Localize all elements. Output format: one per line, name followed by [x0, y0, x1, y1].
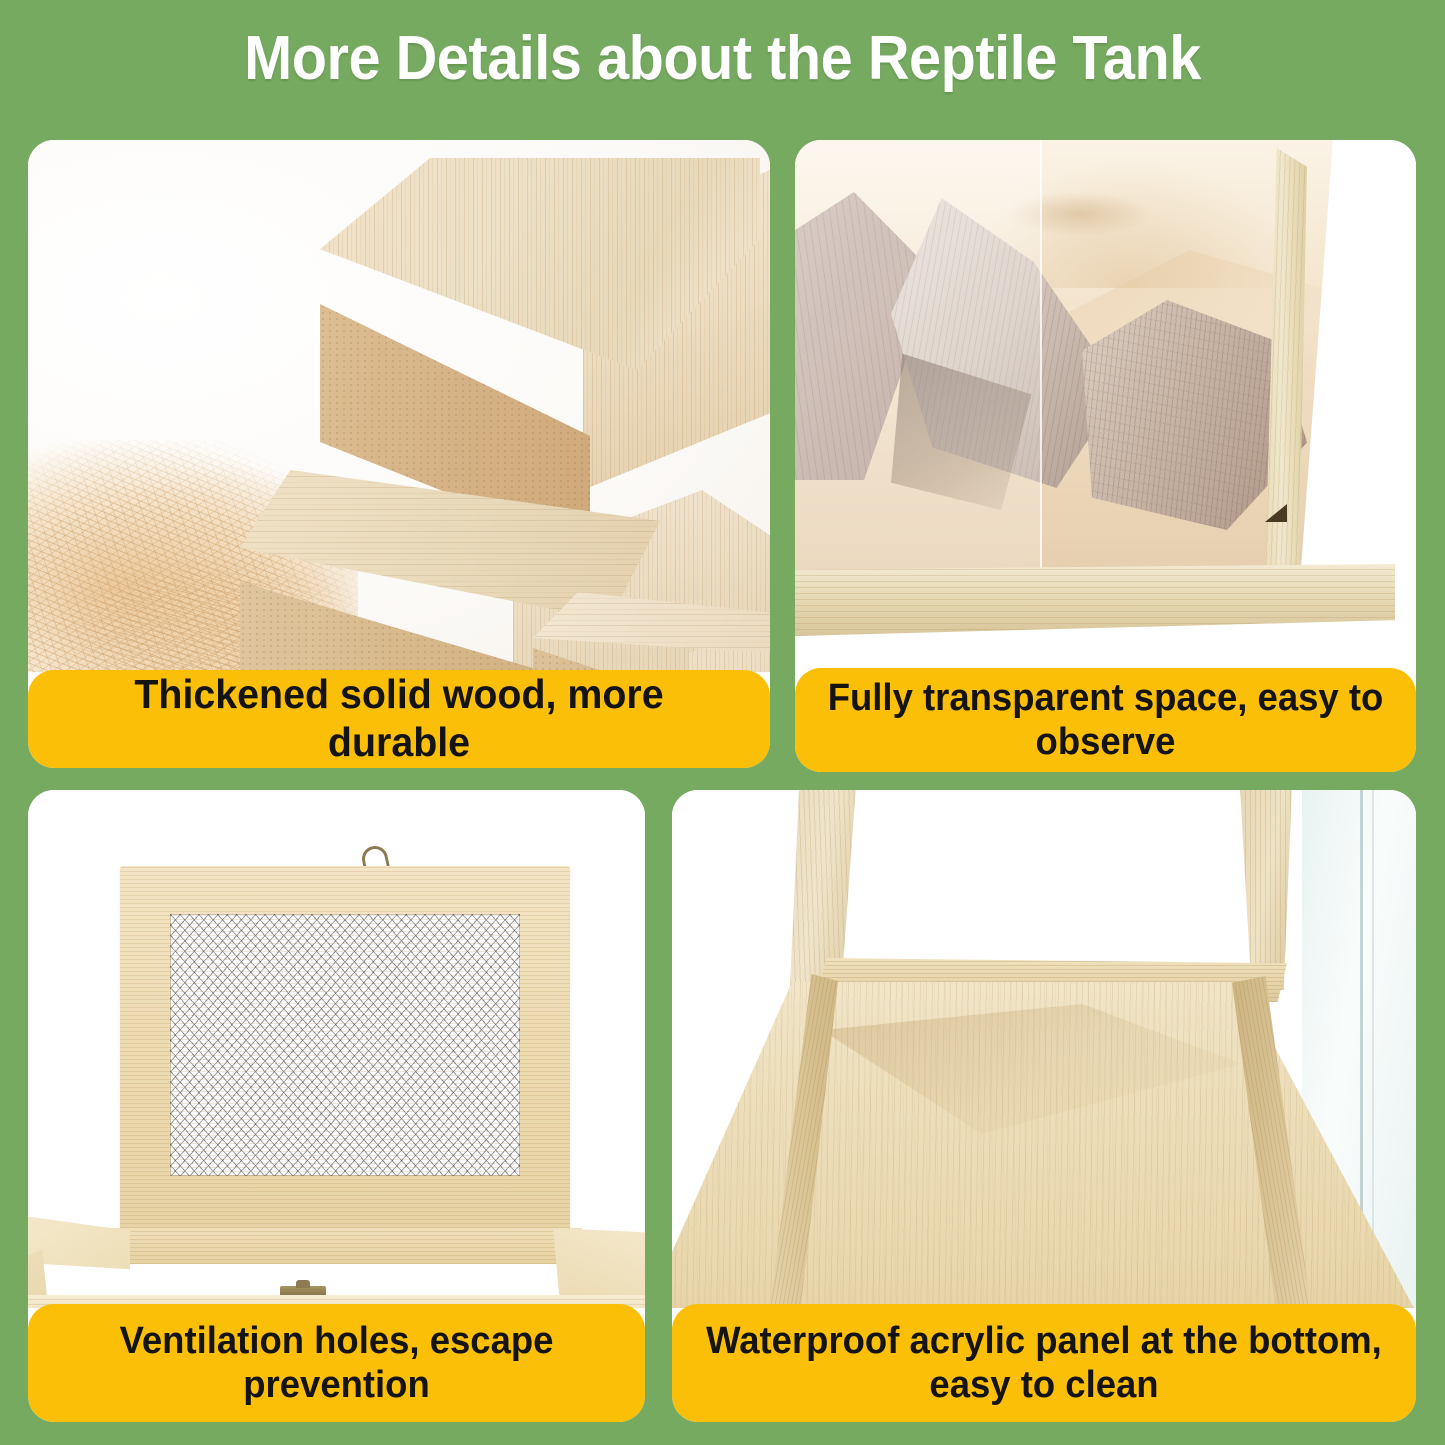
desert-backdrop	[795, 140, 1333, 572]
ventilation-lid-illustration	[28, 790, 645, 1308]
mesh-screen-panel	[170, 914, 520, 1176]
dune-crest-icon	[1010, 192, 1150, 236]
feature-image-waterproof-acrylic-bottom	[672, 790, 1416, 1308]
feature-card-waterproof-acrylic-bottom: Waterproof acrylic panel at the bottom, …	[672, 790, 1416, 1422]
transparent-panel-illustration	[795, 140, 1416, 672]
caption-text: Fully transparent space, easy to observe	[825, 676, 1387, 764]
background-wall	[848, 790, 1248, 976]
tank-back-rail	[100, 1228, 582, 1264]
feature-card-ventilation-holes: Ventilation holes, escape prevention	[28, 790, 645, 1422]
feature-caption-waterproof-acrylic-bottom: Waterproof acrylic panel at the bottom, …	[672, 1304, 1416, 1422]
feature-caption-ventilation-holes: Ventilation holes, escape prevention	[28, 1304, 645, 1422]
acrylic-panel-seam	[1040, 140, 1042, 572]
page-title: More Details about the Reptile Tank	[51, 28, 1395, 90]
tank-floor-illustration	[672, 790, 1416, 1308]
feature-caption-fully-transparent-space: Fully transparent space, easy to observe	[795, 668, 1416, 772]
frame-post-left	[790, 790, 856, 986]
feature-card-fully-transparent-space: Fully transparent space, easy to observe	[795, 140, 1416, 772]
caption-text: Ventilation holes, escape prevention	[58, 1319, 616, 1407]
feature-image-fully-transparent-space	[795, 140, 1416, 672]
wire-mesh-icon	[170, 914, 520, 1176]
feature-image-ventilation-holes	[28, 790, 645, 1308]
feature-card-thickened-solid-wood: Thickened solid wood, more durable	[28, 140, 770, 768]
caption-text: Thickened solid wood, more durable	[60, 671, 738, 766]
wood-blocks-illustration	[28, 140, 770, 672]
feature-caption-thickened-solid-wood: Thickened solid wood, more durable	[28, 670, 770, 768]
feature-image-thickened-solid-wood	[28, 140, 770, 672]
caption-text: Waterproof acrylic panel at the bottom, …	[704, 1319, 1384, 1407]
wooden-lid-frame	[120, 866, 570, 1236]
wooden-frame-front-rail	[795, 564, 1395, 636]
